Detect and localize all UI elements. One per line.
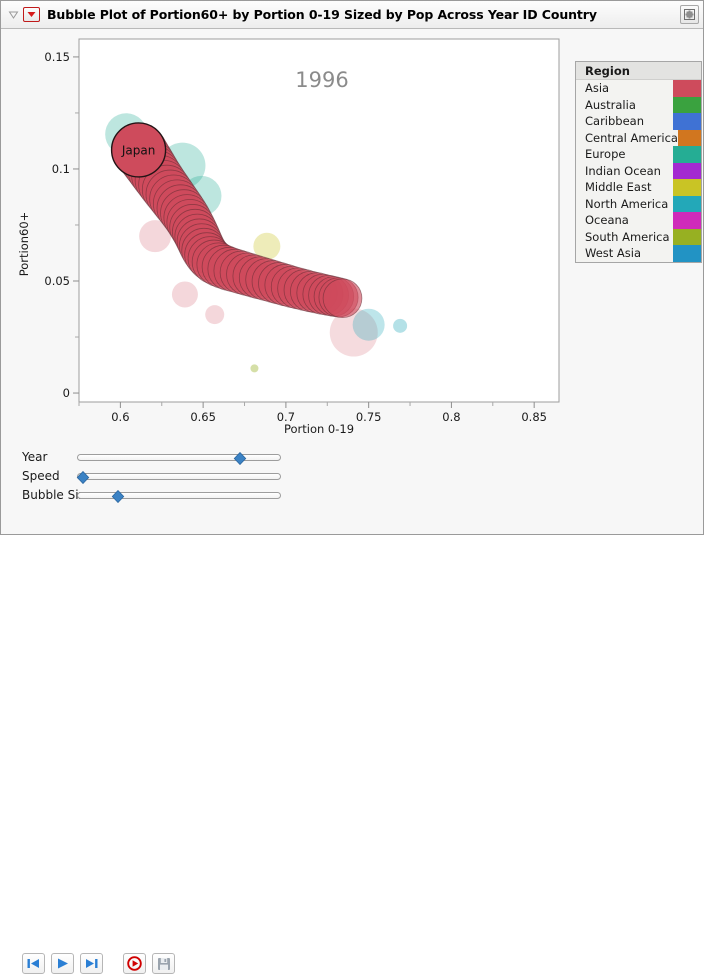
legend-color-swatch[interactable] — [673, 229, 701, 246]
year-annotation: 1996 — [295, 68, 348, 92]
legend-item-west-asia[interactable]: West Asia — [576, 245, 701, 262]
bubble-trail-point — [323, 279, 362, 318]
legend-color-swatch[interactable] — [673, 212, 701, 229]
legend-color-swatch[interactable] — [673, 163, 701, 180]
legend-color-swatch[interactable] — [673, 146, 701, 163]
legend-color-swatch[interactable] — [673, 97, 701, 114]
legend-item-label: West Asia — [576, 245, 673, 262]
legend-title: Region — [576, 64, 673, 78]
slider-bubble-size[interactable] — [77, 487, 281, 503]
plot-frame — [79, 39, 559, 402]
slider-label-bubble-size: Bubble Size — [2, 488, 77, 502]
legend-color-swatch[interactable] — [673, 245, 701, 262]
x-tick-label: 0.85 — [521, 410, 547, 424]
bubble-layer-labeled[interactable]: Japan — [112, 123, 166, 177]
y-tick-label: 0.15 — [44, 50, 70, 64]
legend-item-label: Oceana — [576, 212, 673, 229]
bubble-point[interactable] — [205, 305, 224, 324]
slider-thumb[interactable] — [77, 469, 90, 482]
legend-color-swatch[interactable] — [673, 80, 701, 97]
legend-item-caribbean[interactable]: Caribbean — [576, 113, 701, 130]
legend-item-oceana[interactable]: Oceana — [576, 212, 701, 229]
graph-panel: 00.050.10.15 0.60.650.70.750.80.85 Japan… — [2, 29, 703, 439]
legend-item-label: Middle East — [576, 179, 673, 196]
legend-item-asia[interactable]: Asia — [576, 80, 701, 97]
legend-color-swatch[interactable] — [673, 196, 701, 213]
slider-thumb[interactable] — [111, 488, 124, 501]
bubble-point[interactable] — [393, 319, 407, 333]
window-title-bar: Bubble Plot of Portion60+ by Portion 0-1… — [1, 1, 703, 29]
x-axis: 0.60.650.70.750.80.85 — [79, 402, 547, 424]
legend-item-australia[interactable]: Australia — [576, 97, 701, 114]
legend-item-north-america[interactable]: North America — [576, 196, 701, 213]
bubble-plot-window: Bubble Plot of Portion60+ by Portion 0-1… — [0, 0, 704, 535]
legend-item-middle-east[interactable]: Middle East — [576, 179, 701, 196]
bubble-point[interactable] — [172, 281, 198, 307]
slider-speed[interactable] — [77, 468, 281, 484]
playback-button-row — [22, 953, 175, 974]
legend-item-label: Indian Ocean — [576, 163, 673, 180]
record-button[interactable] — [123, 953, 146, 974]
legend-header: Region — [576, 62, 701, 80]
legend-item-indian-ocean[interactable]: Indian Ocean — [576, 163, 701, 180]
slider-year[interactable] — [77, 449, 281, 465]
slider-track[interactable] — [77, 473, 281, 480]
slider-track[interactable] — [77, 492, 281, 499]
legend-item-label: Caribbean — [576, 113, 673, 130]
region-legend[interactable]: Region AsiaAustraliaCaribbeanCentral Ame… — [575, 61, 702, 263]
x-tick-label: 0.8 — [442, 410, 460, 424]
slider-label-year: Year — [2, 450, 77, 464]
step-forward-button[interactable] — [80, 953, 103, 974]
y-tick-label: 0.1 — [52, 162, 70, 176]
slider-label-speed: Speed — [2, 469, 77, 483]
legend-item-europe[interactable]: Europe — [576, 146, 701, 163]
x-tick-label: 0.6 — [111, 410, 129, 424]
legend-swatch-column-header — [673, 62, 701, 79]
x-axis-title: Portion 0-19 — [284, 422, 354, 436]
y-tick-label: 0 — [63, 386, 70, 400]
slider-row-year: Year — [2, 449, 281, 465]
y-axis-title: Portion60+ — [17, 212, 31, 277]
legend-item-label: Central America — [576, 130, 678, 147]
bubble-point[interactable] — [250, 364, 258, 372]
x-tick-label: 0.75 — [356, 410, 382, 424]
step-back-button[interactable] — [22, 953, 45, 974]
x-tick-label: 0.65 — [190, 410, 216, 424]
window-title: Bubble Plot of Portion60+ by Portion 0-1… — [47, 7, 597, 22]
legend-item-label: Australia — [576, 97, 673, 114]
disclosure-triangle-icon[interactable] — [5, 9, 21, 20]
legend-color-swatch[interactable] — [673, 113, 701, 130]
legend-item-label: North America — [576, 196, 673, 213]
legend-item-south-america[interactable]: South America — [576, 229, 701, 246]
y-tick-label: 0.05 — [44, 274, 70, 288]
legend-item-central-america[interactable]: Central America — [576, 130, 701, 147]
red-triangle-menu-icon[interactable] — [23, 7, 40, 22]
legend-item-label: Asia — [576, 80, 673, 97]
legend-color-swatch[interactable] — [678, 130, 701, 147]
slider-row-bubble-size: Bubble Size — [2, 487, 281, 503]
pin-window-icon[interactable] — [680, 5, 699, 24]
legend-item-label: South America — [576, 229, 673, 246]
slider-row-speed: Speed — [2, 468, 281, 484]
save-button — [152, 953, 175, 974]
y-axis: 00.050.10.15 — [44, 50, 79, 400]
play-button[interactable] — [51, 953, 74, 974]
legend-item-label: Europe — [576, 146, 673, 163]
slider-track[interactable] — [77, 454, 281, 461]
bubble-label: Japan — [121, 143, 155, 157]
bubble-point[interactable] — [353, 309, 385, 341]
legend-item-list: AsiaAustraliaCaribbeanCentral AmericaEur… — [576, 80, 701, 262]
slider-thumb[interactable] — [234, 450, 247, 463]
animation-controls: YearSpeedBubble Size — [2, 441, 703, 534]
legend-color-swatch[interactable] — [673, 179, 701, 196]
